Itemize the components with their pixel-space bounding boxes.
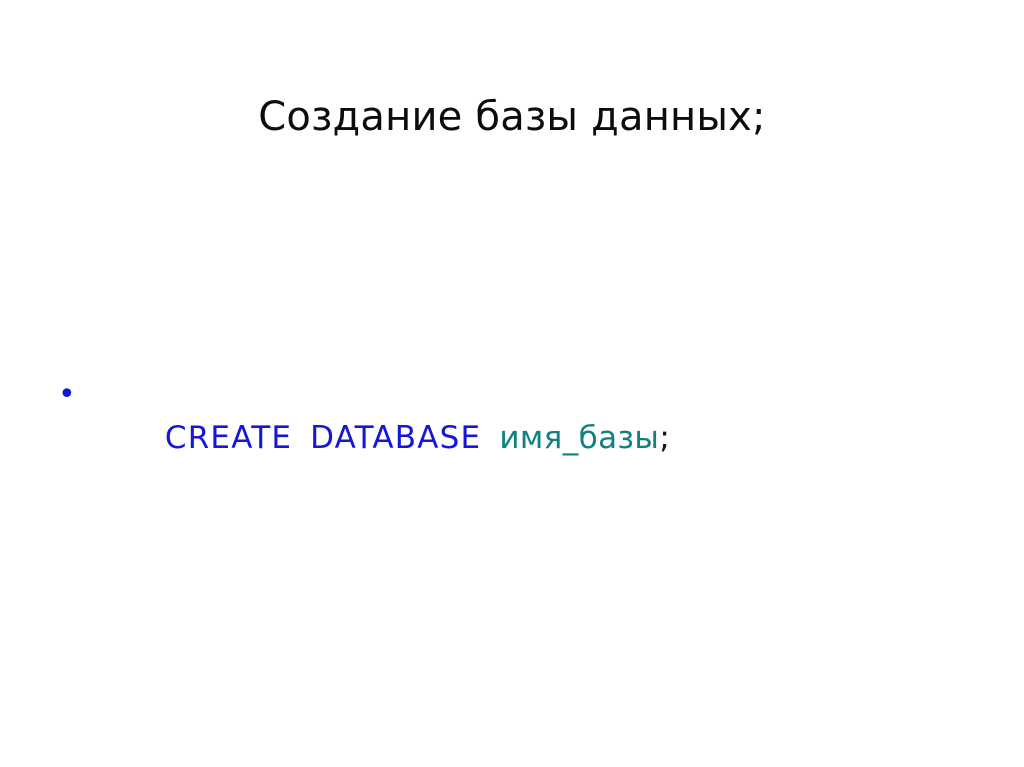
sql-keyword-create: CREATE: [165, 420, 292, 456]
sql-identifier-database-name: имя_базы: [499, 420, 659, 456]
slide-canvas: Создание базы данных; • CREATEDATABASEим…: [0, 0, 1024, 767]
sql-keyword-database: DATABASE: [310, 420, 481, 456]
page-title: Создание базы данных;: [0, 91, 1024, 143]
list-item: • CREATEDATABASEимя_базы;: [52, 372, 952, 504]
sql-statement-terminator: ;: [659, 420, 669, 456]
sql-statement: CREATEDATABASEимя_базы;: [86, 372, 670, 504]
slide-body: • CREATEDATABASEимя_базы;: [52, 372, 952, 504]
bullet-point-icon: •: [52, 373, 86, 417]
